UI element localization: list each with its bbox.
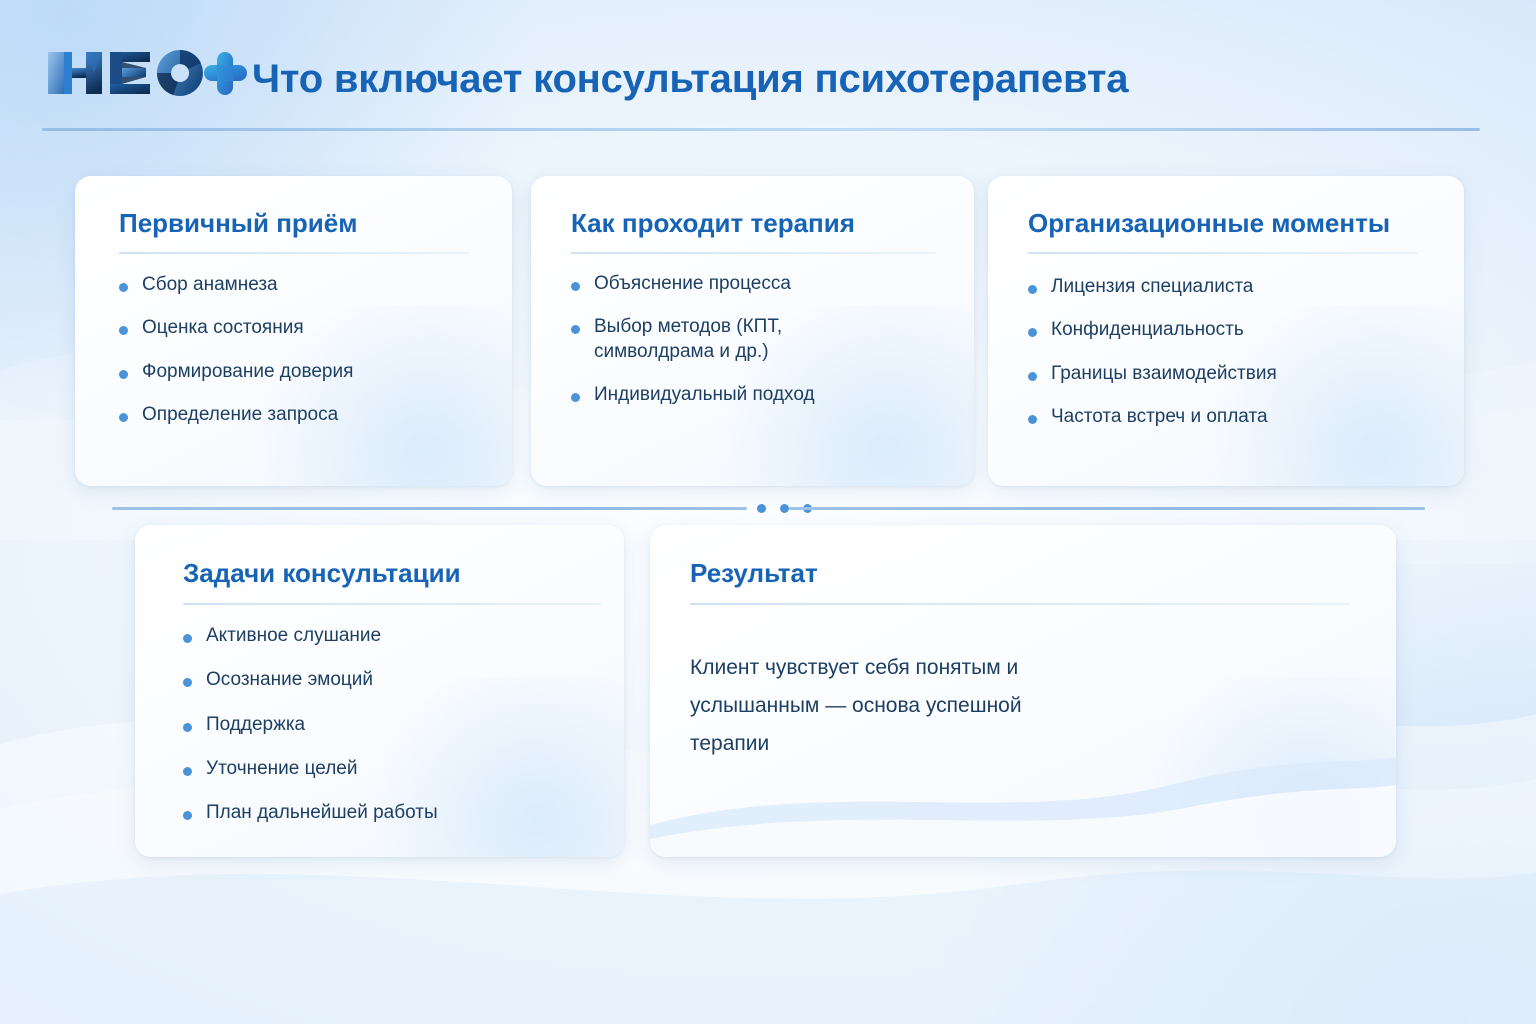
- clipboard-person-icon: [457, 482, 512, 486]
- card-item-list: Сбор анамнеза Оценка состояния Формирова…: [115, 273, 353, 427]
- card-wave-decoration: [650, 707, 1396, 857]
- card-item-list: Лицензия специалиста Конфиденциальность …: [1024, 275, 1277, 429]
- card-heading-divider: [1028, 252, 1418, 254]
- bullet-icon: [571, 325, 580, 334]
- card-heading: Как проходит терапия: [571, 208, 855, 239]
- card-primary-appointment[interactable]: Первичный приём Сбор анамнеза Оценка сос…: [75, 176, 512, 486]
- bullet-icon: [119, 283, 128, 292]
- list-item-label: Частота встреч и оплата: [1051, 406, 1268, 427]
- page-header: Что включает консультация психотерапевта: [0, 0, 1536, 140]
- card-heading-divider: [119, 252, 469, 254]
- list-item: Формирование доверия: [115, 360, 353, 384]
- list-item: Сбор анамнеза: [115, 273, 353, 297]
- list-item: Объяснение процесса: [567, 272, 852, 296]
- list-item-label: Активное слушание: [206, 625, 381, 646]
- bullet-icon: [1028, 415, 1037, 424]
- bullet-icon: [571, 282, 580, 291]
- list-item-label: Границы взаимодействия: [1051, 363, 1277, 384]
- header-divider: [42, 128, 1480, 131]
- list-item: Лицензия специалиста: [1024, 275, 1277, 299]
- list-item-label: Уточнение целей: [206, 758, 358, 779]
- row-divider-line-left: [112, 507, 747, 510]
- list-item-label: Индивидуальный подход: [594, 384, 815, 405]
- list-item: Индивидуальный подход: [567, 383, 852, 407]
- card-heading: Первичный приём: [119, 208, 357, 239]
- bullet-icon: [119, 370, 128, 379]
- list-item: План дальнейшей работы: [179, 801, 438, 825]
- list-item: Границы взаимодействия: [1024, 362, 1277, 386]
- bullet-icon: [1028, 328, 1037, 337]
- card-heading-divider: [690, 603, 1350, 605]
- list-item: Осознание эмоций: [179, 668, 438, 692]
- card-therapy-process[interactable]: Как проходит терапия Объяснение процесса…: [531, 176, 974, 486]
- list-item-label: Формирование доверия: [142, 361, 353, 382]
- list-item-label: Оценка состояния: [142, 317, 304, 338]
- list-item-label: Поддержка: [206, 714, 305, 735]
- bullet-icon: [119, 326, 128, 335]
- row-divider: [0, 494, 1536, 522]
- card-heading: Результат: [690, 558, 818, 589]
- row-divider-dot: [757, 504, 766, 513]
- card-heading-divider: [571, 252, 936, 254]
- list-item-label: Сбор анамнеза: [142, 274, 278, 295]
- list-item: Частота встреч и оплата: [1024, 405, 1277, 429]
- card-heading: Задачи консультации: [183, 558, 461, 589]
- list-item-label: Определение запроса: [142, 404, 338, 425]
- list-item-label: План дальнейшей работы: [206, 802, 438, 823]
- list-item: Поддержка: [179, 713, 438, 737]
- bullet-icon: [1028, 372, 1037, 381]
- list-item-label: Лицензия специалиста: [1051, 276, 1253, 297]
- list-item-label: Выбор методов (КПТ, символдрама и др.): [594, 316, 782, 361]
- list-item-label: Объяснение процесса: [594, 273, 791, 294]
- row-divider-dot: [780, 504, 789, 513]
- card-heading: Организационные моменты: [1028, 208, 1390, 239]
- neo-plus-logo: [42, 42, 247, 104]
- list-item: Конфиденциальность: [1024, 318, 1277, 342]
- list-item: Оценка состояния: [115, 316, 353, 340]
- bullet-icon: [1028, 285, 1037, 294]
- list-item: Определение запроса: [115, 403, 353, 427]
- list-item: Уточнение целей: [179, 757, 438, 781]
- row-divider-line-right: [789, 507, 1425, 510]
- bullet-icon: [119, 413, 128, 422]
- bullet-icon: [183, 767, 192, 776]
- bullet-icon: [183, 634, 192, 643]
- bullet-icon: [183, 811, 192, 820]
- bullet-icon: [183, 723, 192, 732]
- list-item: Выбор методов (КПТ, символдрама и др.): [567, 315, 852, 364]
- infographic-canvas: Что включает консультация психотерапевта…: [0, 0, 1536, 1024]
- list-item: Активное слушание: [179, 624, 438, 648]
- bullet-icon: [571, 393, 580, 402]
- card-result[interactable]: Результат Клиент чувствует себя понятым …: [650, 525, 1396, 857]
- list-item-label: Осознание эмоций: [206, 669, 373, 690]
- list-item-label: Конфиденциальность: [1051, 319, 1244, 340]
- card-item-list: Объяснение процесса Выбор методов (КПТ, …: [567, 272, 852, 407]
- card-consultation-tasks[interactable]: Задачи консультации Активное слушание Ос…: [135, 525, 624, 857]
- card-organizational[interactable]: Организационные моменты Лицензия специал…: [988, 176, 1464, 486]
- card-heading-divider: [183, 603, 601, 605]
- bullet-icon: [183, 678, 192, 687]
- page-title: Что включает консультация психотерапевта: [252, 57, 1128, 102]
- card-item-list: Активное слушание Осознание эмоций Подде…: [179, 624, 438, 846]
